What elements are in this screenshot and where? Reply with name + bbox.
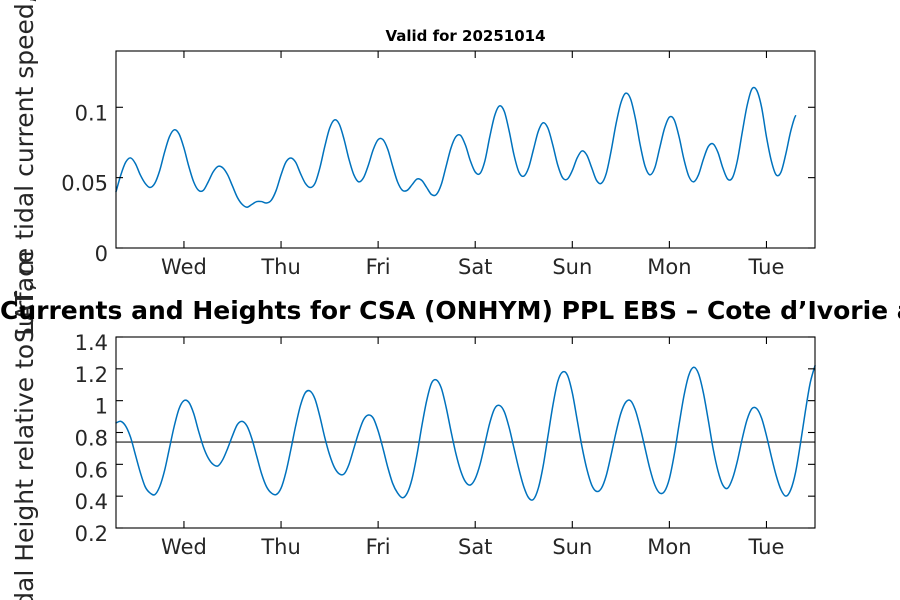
ytick-label-current-speed-2: 0.1 [75,101,108,125]
ytick-label-tidal-height-2: 0.6 [75,458,108,482]
ytick-label-tidal-height-6: 1.4 [75,331,108,355]
xtick-label-tidal-height-1: Thu [260,535,300,559]
main-title-layer: Currents and Heights for CSA (ONHYM) PPL… [0,296,900,325]
xtick-label-tidal-height-5: Mon [647,535,691,559]
plot-background-current-speed [116,51,815,248]
xtick-label-current-speed-3: Sat [458,255,492,279]
xtick-label-current-speed-1: Thu [260,255,300,279]
xtick-label-current-speed-6: Tue [748,255,785,279]
xtick-label-tidal-height-2: Fri [366,535,391,559]
ytick-label-tidal-height-5: 1.2 [75,363,108,387]
xtick-label-current-speed-5: Mon [647,255,691,279]
xtick-label-current-speed-4: Sun [552,255,592,279]
figure-canvas: 00.050.1WedThuFriSatSunMonTueValid for 2… [0,0,900,600]
axes-current-speed: 00.050.1WedThuFriSatSunMonTueValid for 2… [10,0,815,343]
plot-title-current-speed: Valid for 20251014 [385,27,545,45]
ytick-label-tidal-height-3: 0.8 [75,427,108,451]
ytick-label-current-speed-1: 0.05 [61,172,108,196]
xtick-label-current-speed-2: Fri [366,255,391,279]
ytick-label-tidal-height-0: 0.2 [75,522,108,546]
xtick-label-tidal-height-3: Sat [458,535,492,559]
ytick-label-current-speed-0: 0 [95,242,108,266]
main-title: Currents and Heights for CSA (ONHYM) PPL… [0,296,900,325]
ytick-label-tidal-height-4: 1 [95,395,108,419]
xtick-label-tidal-height-4: Sun [552,535,592,559]
xtick-label-tidal-height-0: Wed [161,535,207,559]
xtick-label-tidal-height-6: Tue [748,535,785,559]
xtick-label-current-speed-0: Wed [161,255,207,279]
ytick-label-tidal-height-1: 0.4 [75,490,108,514]
